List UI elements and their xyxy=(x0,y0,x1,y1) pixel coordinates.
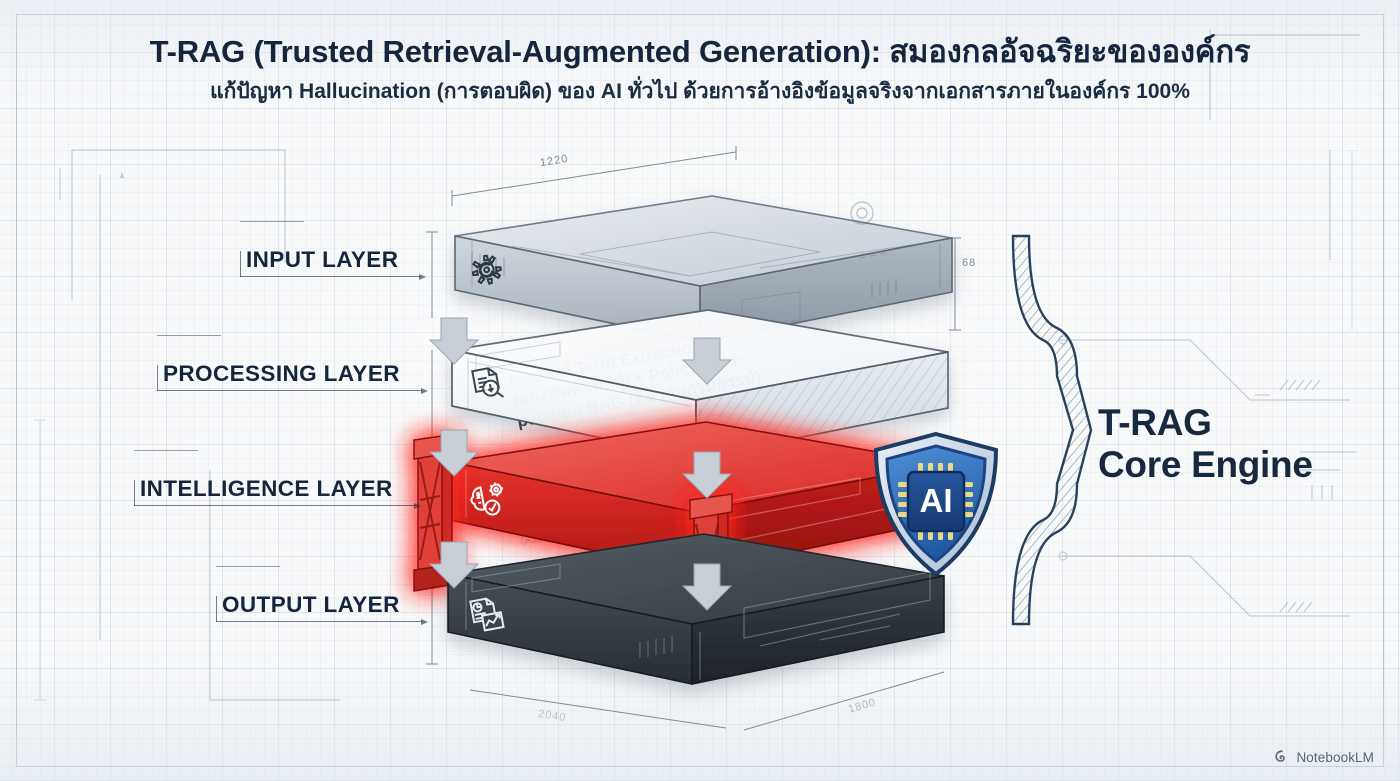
leader-tick-top xyxy=(157,335,221,336)
core-engine-label: T-RAG Core Engine xyxy=(1098,402,1313,486)
layer-label-input: INPUT LAYER xyxy=(240,247,404,277)
layer-label-intelligence-text: INTELLIGENCE LAYER xyxy=(134,476,399,506)
leader-tick-top xyxy=(240,221,304,222)
notebooklm-label: NotebookLM xyxy=(1296,750,1374,765)
leader-arrow xyxy=(421,619,428,625)
leader-arrow xyxy=(419,274,426,280)
layer-label-processing: PROCESSING LAYER xyxy=(157,361,406,391)
core-engine-line1: T-RAG xyxy=(1098,402,1313,444)
leader-arrow xyxy=(414,503,421,509)
page-subtitle: แก้ปัญหา Hallucination (การตอบผิด) ของ A… xyxy=(0,79,1400,104)
leader-rule xyxy=(240,276,420,277)
header: T-RAG (Trusted Retrieval-Augmented Gener… xyxy=(0,34,1400,104)
leader-tick-top xyxy=(134,450,198,451)
notebooklm-watermark: NotebookLM xyxy=(1274,749,1374,765)
leader-tick xyxy=(157,365,158,391)
core-engine-line2: Core Engine xyxy=(1098,444,1313,486)
leader-rule xyxy=(216,621,422,622)
ai-shield-icon: AI xyxy=(866,430,1006,578)
layer-label-input-text: INPUT LAYER xyxy=(240,247,404,277)
ai-badge-text: AI xyxy=(920,482,953,519)
leader-rule xyxy=(134,505,415,506)
layer-label-intelligence: INTELLIGENCE LAYER xyxy=(134,476,399,506)
layer-label-output: OUTPUT LAYER xyxy=(216,592,406,622)
notebooklm-icon xyxy=(1274,749,1290,765)
leader-rule xyxy=(157,390,422,391)
leader-tick xyxy=(216,596,217,622)
leader-tick xyxy=(240,251,241,277)
page-title: T-RAG (Trusted Retrieval-Augmented Gener… xyxy=(0,34,1400,71)
leader-arrow xyxy=(421,388,428,394)
leader-tick xyxy=(134,480,135,506)
leader-tick-top xyxy=(216,566,280,567)
layer-label-output-text: OUTPUT LAYER xyxy=(216,592,406,622)
layer-label-processing-text: PROCESSING LAYER xyxy=(157,361,406,391)
